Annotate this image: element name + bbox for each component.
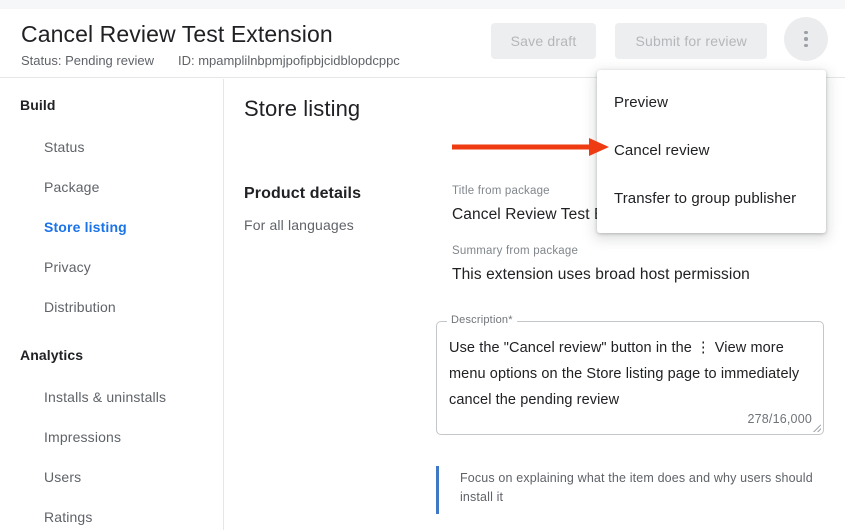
description-hint: Focus on explaining what the item does a… <box>436 466 824 514</box>
sidebar-group-title: Build <box>0 95 223 115</box>
summary-from-package-value: This extension uses broad host permissio… <box>452 264 750 286</box>
resize-handle-icon[interactable] <box>812 423 821 432</box>
sidebar-group-build: Build Status Package Store listing Priva… <box>0 95 223 327</box>
submit-for-review-button[interactable]: Submit for review <box>615 23 767 59</box>
page-header: Cancel Review Test Extension Status: Pen… <box>0 9 845 78</box>
description-hint-text: Focus on explaining what the item does a… <box>460 466 824 507</box>
sidebar-item-impressions[interactable]: Impressions <box>0 417 223 457</box>
sidebar-item-installs-uninstalls[interactable]: Installs & uninstalls <box>0 377 223 417</box>
description-field[interactable]: Description* Use the "Cancel review" but… <box>436 321 824 435</box>
description-label: Description* <box>447 314 517 327</box>
sidebar-group-title: Analytics <box>0 345 223 365</box>
sidebar-item-package[interactable]: Package <box>0 167 223 207</box>
header-title-block: Cancel Review Test Extension Status: Pen… <box>21 19 400 69</box>
product-details-subtext: For all languages <box>244 217 354 233</box>
sidebar-item-store-listing[interactable]: Store listing <box>0 207 223 247</box>
sidebar-item-privacy[interactable]: Privacy <box>0 247 223 287</box>
sidebar-nav: Build Status Package Store listing Priva… <box>0 79 224 530</box>
status-text: Status: Pending review <box>21 52 154 69</box>
page-title: Cancel Review Test Extension <box>21 19 400 49</box>
sidebar-group-analytics: Analytics Installs & uninstalls Impressi… <box>0 345 223 530</box>
sidebar-item-status[interactable]: Status <box>0 127 223 167</box>
product-details-heading: Product details <box>244 185 361 203</box>
extension-dashboard-page: Cancel Review Test Extension Status: Pen… <box>0 0 845 530</box>
top-strip <box>0 0 845 9</box>
menu-item-preview[interactable]: Preview <box>597 79 826 127</box>
sidebar-item-users[interactable]: Users <box>0 457 223 497</box>
menu-item-cancel-review[interactable]: Cancel review <box>597 127 826 175</box>
sidebar-item-distribution[interactable]: Distribution <box>0 287 223 327</box>
summary-from-package-label: Summary from package <box>452 244 750 259</box>
vertical-dots-icon <box>804 31 808 35</box>
more-options-menu: Preview Cancel review Transfer to group … <box>597 70 826 233</box>
description-textarea[interactable]: Use the "Cancel review" button in the ⋮ … <box>449 335 812 413</box>
header-meta-row: Status: Pending review ID: mpamplilnbpmj… <box>21 52 400 69</box>
menu-item-transfer-to-group-publisher[interactable]: Transfer to group publisher <box>597 175 826 223</box>
sidebar-item-ratings[interactable]: Ratings <box>0 497 223 530</box>
description-character-counter: 278/16,000 <box>747 412 812 426</box>
extension-id-text: ID: mpamplilnbpmjpofipbjcidblopdcppc <box>178 52 400 69</box>
store-listing-heading: Store listing <box>244 96 360 122</box>
more-options-button[interactable] <box>784 17 828 61</box>
vertical-dots-icon <box>804 37 808 41</box>
header-actions: Save draft Submit for review <box>491 21 828 61</box>
save-draft-button[interactable]: Save draft <box>491 23 597 59</box>
vertical-dots-icon <box>804 44 808 48</box>
summary-from-package-field: Summary from package This extension uses… <box>452 244 750 286</box>
